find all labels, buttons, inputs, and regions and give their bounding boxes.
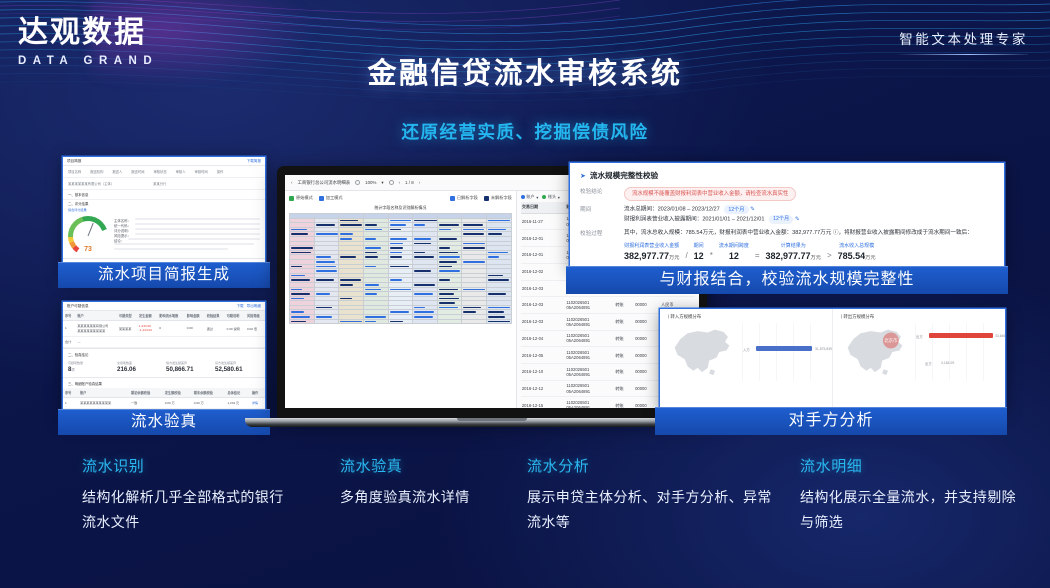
field-marker: [340, 279, 361, 281]
formula-op-greater: >: [827, 251, 832, 261]
detail-bar-1: [135, 223, 260, 225]
report-section-1: 一、基本信息: [63, 190, 265, 199]
field-marker: [390, 238, 407, 240]
cell-lvl: 0.00 低: [245, 321, 265, 337]
feature-item-1: 流水识别 结构化解析几乎全部格式的银行流水文件: [82, 455, 297, 534]
field-marker: [340, 220, 358, 222]
field-marker: [439, 256, 460, 258]
vstat-2: 借方发生额差异 50,866.71: [166, 361, 211, 374]
report-detail-lines: 主体名称： 统一代码： 评分说明： 风险提示： 结论：: [114, 216, 260, 256]
field-marker: [488, 233, 502, 235]
field-marker: [340, 284, 353, 286]
field-marker: [414, 284, 435, 286]
verify-suspicious-table: 序号 账户 可疑类型 发生金额 影响流水笔数 影响金额 校验结果 可疑说明 风险…: [63, 311, 265, 348]
tagline-text: 智能文本处理专家: [896, 28, 1028, 48]
field-marker: [390, 252, 403, 254]
filter-dot-icon: [521, 195, 525, 199]
doc-caption: 统计字段名称及识别解析情况: [289, 205, 512, 211]
field-marker: [439, 238, 457, 240]
period-flow-range: 流水总期间：2023/01/08 – 2023/12/27: [624, 207, 720, 213]
cell-date: 2016-12-10: [521, 363, 566, 380]
cell-amt: [137, 336, 157, 347]
screenshot-report-panel[interactable]: 项目简报 下载简报 项目名称 报送机构 报送人 报送时间 审核状态 审核人 审核…: [63, 157, 265, 279]
field-marker: [488, 307, 510, 309]
period-report-range: 财报利润表营业收入披露期间：2021/01/01 – 2021/12/01: [624, 216, 765, 222]
integrity-period-row: 期间 流水总期间：2023/01/08 – 2023/12/27 12个月 ✎ …: [580, 205, 995, 224]
report-data-row: 某某某某某某有限公司（主体） 某某分行: [63, 178, 265, 190]
vstat-1-value: 216.06: [117, 366, 162, 373]
field-marker: [439, 261, 458, 263]
cell-note: [225, 336, 245, 347]
inflow-distribution: 丨转入方规模分布 入方 31,875,839: [660, 309, 832, 411]
feature-4-title: 流水明细: [800, 455, 1025, 476]
inflow-title: 丨转入方规模分布: [666, 314, 826, 320]
field-marker: [365, 224, 377, 226]
field-marker: [439, 293, 454, 295]
vstat-0-label: 可疑项数量: [68, 361, 113, 365]
vcol-6: 校验结果: [205, 311, 225, 321]
col-6: 审核时间: [195, 169, 208, 174]
chevron-down-icon[interactable]: ▾: [381, 180, 383, 186]
period-chip-2[interactable]: 12个月: [769, 215, 793, 224]
field-marker: [488, 256, 499, 258]
formula-label-2: 期间: [694, 242, 704, 249]
formula-term-6: 计算结果为 382,977.77万元: [766, 242, 821, 261]
cell-account: 110202650105A2064891: [565, 397, 614, 408]
cell-date: 2016-12-01: [521, 247, 566, 264]
field-marker: [414, 252, 425, 254]
vstat-3-label: 贷方发生额差异: [215, 361, 260, 365]
field-marker: [414, 307, 425, 309]
vstat-1: 交易笔数差 216.06: [117, 361, 162, 374]
verify-head-action-2[interactable]: 导出明细: [247, 304, 261, 309]
field-marker: [365, 321, 377, 323]
field-marker: [340, 238, 351, 240]
field-marker: [340, 224, 362, 226]
field-marker: [414, 224, 425, 226]
legend-parsed-label: 已解析字段: [457, 195, 478, 201]
feature-item-3: 流水分析 展示申贷主体分析、对手方分析、异常流水等: [527, 455, 772, 534]
document-title: 工商银行总公司流水明细表: [297, 180, 350, 186]
cell-currency: 00000: [634, 363, 660, 380]
formula-label-0: 财报利润表营业收入金额: [624, 242, 679, 249]
cell-date: 2016-12-03: [521, 280, 566, 297]
inflow-bar-chart: 入方 31,875,839: [742, 323, 826, 381]
tag-original-mode[interactable]: 原始模式: [289, 195, 313, 201]
field-marker: [316, 293, 331, 295]
field-marker: [414, 243, 431, 245]
legend-parsed-swatch-icon: [450, 196, 455, 201]
field-marker: [488, 275, 503, 277]
outflow-distribution: 丨转出方规模分布 北京市 出方 33,646,489.91 出方 3,184.0…: [832, 309, 1005, 411]
cell-lvl: [245, 336, 265, 347]
formula-value-8: 785.54: [838, 251, 866, 261]
table-row[interactable]: 1 某某某某某某有限公司某某某某某某某某某 某某某某 1,234.00-1,23…: [63, 321, 265, 337]
legend-parsed: 已解析字段: [450, 195, 478, 201]
tag-original-label: 原始模式: [296, 195, 313, 201]
field-marker: [463, 289, 485, 291]
field-marker: [488, 279, 509, 281]
field-marker: [390, 266, 410, 268]
cell-date: 2016-12-01: [521, 230, 566, 247]
field-marker: [439, 252, 458, 254]
zoom-in-icon[interactable]: [389, 180, 394, 185]
formula-term-4: 流水期间跨度 12: [719, 242, 749, 261]
inflow-axis-label: 入方: [743, 347, 750, 352]
period-chip-1[interactable]: 12个月: [724, 205, 748, 214]
field-marker: [390, 256, 403, 258]
vstat-0: 可疑项数量 8项: [68, 361, 113, 374]
table-row: [290, 319, 512, 324]
field-marker: [340, 298, 351, 300]
next-page-icon[interactable]: ›: [419, 180, 420, 185]
grid-cell: [363, 319, 388, 324]
detail-bar-4: [128, 238, 260, 240]
gauge-value: 73: [68, 246, 108, 253]
verify-header: 账户可疑信息 下载 导出明细: [63, 302, 265, 311]
field-marker: [488, 321, 509, 323]
field-marker: [390, 321, 403, 323]
cell-account: 110202650105A2064891: [565, 297, 614, 314]
feature-3-desc: 展示申贷主体分析、对手方分析、异常流水等: [527, 485, 772, 534]
edit-icon[interactable]: ✎: [795, 216, 800, 222]
zoom-level[interactable]: 100%: [365, 180, 376, 185]
integrity-formula: 财报利润表营业收入金额 382,977.77万元 / 期间 12 * 流水期间跨…: [580, 242, 995, 261]
verify-head-action-1[interactable]: 下载: [236, 304, 243, 309]
field-marker: [316, 307, 333, 309]
field-marker: [414, 220, 436, 222]
field-marker: [390, 289, 411, 291]
vcol-7: 可疑说明: [225, 311, 245, 321]
formula-value-0: 382,977.77: [624, 251, 669, 261]
detail-bar-3: [135, 233, 260, 235]
d-occ: 0.00 万: [163, 398, 192, 409]
vcol-1: 账户: [75, 311, 117, 321]
integrity-title: 流水规模完整性校验: [590, 170, 658, 181]
v3col-4: 期末余额校验: [192, 388, 226, 398]
field-marker: [365, 238, 376, 240]
cell-date: 2016-12-02: [521, 263, 566, 280]
col-2: 报送人: [112, 169, 122, 174]
v3col-2: 期初余额校验: [129, 388, 163, 398]
back-icon[interactable]: ‹: [291, 180, 292, 185]
cell-date: 2016-12-05: [521, 347, 566, 364]
field-marker: [365, 289, 382, 291]
field-marker: [488, 229, 506, 231]
feature-2-desc: 多角度验真流水详情: [340, 485, 535, 510]
field-marker: [316, 224, 336, 226]
caption-counterparty: 对手方分析: [655, 407, 1007, 435]
outflow-axis-label: 出方: [916, 334, 923, 339]
field-marker: [291, 311, 304, 313]
field-marker: [463, 224, 482, 226]
feature-list: 流水识别 结构化解析几乎全部格式的银行流水文件 流水验真 多角度验真流水详情 流…: [0, 455, 1050, 565]
page-title: 金融信贷流水审核系统: [0, 50, 1050, 92]
report-head-title: 项目简报: [67, 159, 81, 164]
field-marker: [291, 316, 310, 318]
formula-label-8: 流水收入总规模: [838, 242, 876, 249]
v3col-0: 序号: [63, 388, 78, 398]
v3col-1: 账户: [78, 388, 129, 398]
field-marker: [291, 293, 310, 295]
legend-unparsed: 未解析字段: [484, 195, 512, 201]
formula-unit-8: 万元: [865, 255, 875, 261]
field-marker: [291, 247, 313, 249]
cell-type: [117, 336, 137, 347]
field-marker: [439, 266, 452, 268]
field-marker: [439, 289, 458, 291]
process-label: 校验过程: [580, 229, 624, 238]
field-marker: [316, 279, 334, 281]
filter-account-label: 账户: [526, 194, 534, 200]
edit-icon[interactable]: ✎: [750, 207, 755, 213]
inflow-bar: [756, 346, 812, 351]
expand-chevron-icon[interactable]: ➤: [580, 172, 586, 180]
v3col-3: 发生额校验: [163, 388, 192, 398]
screenshot-integrity-panel[interactable]: ➤ 流水规模完整性校验 校验结论 流水规模不能覆盖财报利润表中营业收入金额，请检…: [570, 163, 1004, 269]
field-marker: [414, 256, 434, 258]
formula-value-2: 12: [694, 251, 704, 261]
field-marker: [414, 293, 433, 295]
cell-acct: —: [75, 336, 117, 347]
field-marker: [439, 302, 455, 304]
formula-op-multiply: *: [710, 251, 713, 261]
d-op: 详情: [250, 398, 265, 409]
field-marker: [316, 270, 337, 272]
cell-infl: 0.00: [185, 321, 205, 337]
field-marker: [365, 229, 382, 231]
filter-header[interactable]: 账头▾: [542, 194, 560, 200]
field-marker: [463, 243, 485, 245]
zoom-out-icon[interactable]: [355, 180, 360, 185]
inflow-title-text: 转入方规模分布: [670, 314, 701, 319]
field-marker: [463, 229, 483, 231]
grid-cell: [314, 319, 339, 324]
cell-date: 2016-12-12: [521, 380, 566, 397]
cell-type: 某某某某: [117, 321, 137, 337]
vstat-3-value: 52,580.61: [215, 366, 260, 373]
field-marker: [390, 229, 402, 231]
field-marker: [316, 256, 331, 258]
mode-tags[interactable]: 原始模式 加工模式 已解析字段: [289, 195, 512, 201]
formula-value-4: 12: [729, 251, 739, 261]
document-pane[interactable]: 原始模式 加工模式 已解析字段: [285, 191, 517, 408]
cell-cnt: 0: [157, 321, 185, 337]
filter-header-label: 账头: [548, 194, 556, 200]
formula-unit-0: 万元: [669, 255, 679, 261]
field-marker: [291, 266, 302, 268]
china-map-icon: [666, 323, 738, 381]
legend-unparsed-swatch-icon: [484, 196, 489, 201]
outflow-second-value: 3,184.09: [941, 361, 954, 365]
filter-account[interactable]: 账户▾: [521, 194, 539, 200]
feature-4-desc: 结构化展示全量流水，并支持剔除与筛选: [800, 485, 1025, 534]
grid-cell: [413, 319, 438, 324]
field-marker: [291, 252, 311, 254]
vcol-3: 发生金额: [137, 311, 157, 321]
china-map-icon: 北京市: [839, 323, 911, 381]
integrity-content: ➤ 流水规模完整性校验 校验结论 流水规模不能覆盖财报利润表中营业收入金额，请检…: [570, 163, 1004, 265]
report-head-action[interactable]: 下载简报: [247, 159, 261, 164]
field-marker: [390, 247, 403, 249]
col-0: 项目名称: [68, 169, 81, 174]
d-end: 0.00 万: [192, 398, 226, 409]
table-header-row: 序号 账户 可疑类型 发生金额 影响流水笔数 影响金额 校验结果 可疑说明 风险…: [63, 311, 265, 321]
field-marker: [340, 256, 356, 258]
field-marker: [390, 220, 411, 222]
slide-canvas: 达观数据 DATA GRAND 智能文本处理专家 金融信贷流水审核系统 还原经营…: [0, 0, 1050, 588]
field-marker: [488, 220, 510, 222]
cell-date: 2016-12-03: [521, 297, 566, 314]
table-row[interactable]: 合计 —: [63, 336, 265, 347]
field-marker: [365, 256, 378, 258]
outflow-title: 丨转出方规模分布: [839, 314, 999, 320]
screenshot-verify-panel[interactable]: 账户可疑信息 下载 导出明细 序号 账户 可疑类型 发生金额 影响流水笔数 影响…: [63, 302, 265, 420]
field-marker: [463, 233, 483, 235]
field-marker: [291, 233, 308, 235]
feature-item-4: 流水明细 结构化展示全量流水，并支持剔除与筛选: [800, 455, 1025, 534]
field-marker: [488, 252, 508, 254]
cell-currency: 00000: [634, 313, 660, 330]
field-marker: [488, 293, 506, 295]
cell-idx: 合计: [63, 336, 75, 347]
vstat-2-label: 借方发生额差异: [166, 361, 211, 365]
vcol-4: 影响流水笔数: [157, 311, 185, 321]
verify-section-3: 三、明细账户验真结果: [63, 377, 265, 388]
cell-summary: 转账: [614, 397, 634, 408]
cell-account: 110202650105A2064891: [565, 380, 614, 397]
field-marker: [390, 279, 403, 281]
report-columns-row: 项目名称 报送机构 报送人 报送时间 审核状态 审核人 审核时间 操作: [63, 166, 265, 178]
detail-bar-0: [135, 218, 260, 220]
gauge-needle: [88, 223, 94, 236]
formula-term-2: 期间 12: [694, 242, 704, 261]
screenshot-counterparty-panel[interactable]: 丨转入方规模分布 入方 31,875,839 丨转出方规模分布: [660, 309, 1005, 411]
d-acct: 某某某某某某某某某某: [78, 398, 129, 409]
vstat-1-label: 交易笔数差: [117, 361, 162, 365]
detail-label-4: 结论：: [114, 238, 124, 243]
col-1: 报送机构: [90, 169, 103, 174]
green-swatch-icon: [289, 196, 294, 201]
grid-cell: [487, 319, 512, 324]
field-marker: [439, 224, 459, 226]
field-marker: [316, 316, 333, 318]
feature-1-desc: 结构化解析几乎全部格式的银行流水文件: [82, 485, 297, 534]
prev-page-icon[interactable]: ‹: [399, 180, 400, 185]
field-marker: [316, 233, 338, 235]
field-marker: [439, 298, 459, 300]
d-idx: 1: [63, 398, 78, 409]
cell-currency: 00000: [634, 380, 660, 397]
field-marker: [291, 279, 310, 281]
cell-idx: 1: [63, 321, 75, 337]
page-subtitle: 还原经营实质、挖掘偿债风险: [0, 119, 1050, 144]
outflow-title-text: 转出方规模分布: [843, 314, 874, 319]
cell-note: 0.00 说明: [225, 321, 245, 337]
field-marker: [414, 270, 431, 272]
field-marker: [414, 238, 431, 240]
field-marker: [291, 289, 302, 291]
detail-bar-5: [114, 243, 254, 245]
tag-processed-mode[interactable]: 加工模式: [319, 195, 343, 201]
vcol-2: 可疑类型: [117, 311, 137, 321]
field-marker: [291, 321, 306, 323]
field-marker: [488, 311, 504, 313]
feature-item-2: 流水验真 多角度验真流水详情: [340, 455, 535, 510]
row-name: 某某某某某某有限公司（主体）: [68, 181, 114, 186]
cell-amt: 1,234.00-1,234.00: [137, 321, 157, 337]
grid-cell: [290, 319, 315, 324]
process-text: 其中，流水总收入规模：785.54万元，财报利润表中营业收入金额：382,977…: [624, 229, 995, 238]
verify-head-title: 账户可疑信息: [67, 304, 89, 309]
cell-date: 2016-12-03: [521, 313, 566, 330]
detail-bar-2: [135, 228, 260, 230]
formula-label-4: 流水期间跨度: [719, 242, 749, 249]
cell-res: [205, 336, 225, 347]
outflow-second-axis: 出方: [925, 361, 932, 366]
field-marker: [316, 261, 335, 263]
vcol-8: 风险等级: [245, 311, 265, 321]
period-line-2: 财报利润表营业收入披露期间：2021/01/01 – 2021/12/01 12…: [624, 215, 995, 224]
period-line-1: 流水总期间：2023/01/08 – 2023/12/27 12个月 ✎: [624, 205, 995, 214]
field-marker: [291, 298, 304, 300]
table-header-row: 序号 账户 期初余额校验 发生额校验 期末余额校验 总体结论 操作: [63, 388, 265, 398]
cell-cnt: [157, 336, 185, 347]
report-section-2: 二、评分结果: [63, 199, 265, 207]
field-marker: [414, 316, 433, 318]
formula-label-6: 计算结果为: [766, 242, 821, 249]
feature-3-title: 流水分析: [527, 455, 772, 476]
cell-account: 110202650105A2064891: [565, 363, 614, 380]
integrity-process-row: 校验过程 其中，流水总收入规模：785.54万元，财报利润表中营业收入金额：38…: [580, 229, 995, 238]
field-marker: [340, 321, 361, 323]
period-label: 期间: [580, 205, 624, 224]
cell-account: 110202650105A2064891: [565, 347, 614, 364]
col-4: 审核状态: [153, 169, 166, 174]
cell-date: 2016-12-15: [521, 397, 566, 408]
vstat-3: 贷方发生额差异 52,580.61: [215, 361, 260, 374]
cell-res: 通过: [205, 321, 225, 337]
formula-op-equals: =: [755, 251, 760, 261]
formula-unit-6: 万元: [811, 255, 821, 261]
d-sum: 1,234 元: [225, 398, 249, 409]
cell-currency: 00000: [634, 347, 660, 364]
field-marker: [365, 284, 379, 286]
cell-summary: 转账: [614, 297, 634, 314]
page-indicator: 1 / 8: [405, 180, 414, 185]
field-marker: [390, 224, 407, 226]
inflow-body: 入方 31,875,839: [666, 323, 826, 381]
field-marker: [463, 307, 480, 309]
hotspot-label: 北京市: [884, 337, 898, 344]
score-gauge: 73: [68, 216, 108, 256]
field-marker: [291, 229, 307, 231]
field-marker: [439, 229, 451, 231]
grid-cell: [388, 319, 413, 324]
row-org: 某某分行: [153, 181, 166, 186]
field-marker: [365, 293, 377, 295]
outflow-bar: [929, 333, 993, 338]
table-row[interactable]: 1 某某某某某某某某某某 一致 0.00 万 0.00 万 1,234 元 详情: [63, 398, 265, 409]
filter-dot-icon: [542, 195, 546, 199]
field-marker: [340, 233, 353, 235]
blue-swatch-icon: [319, 196, 324, 201]
cell-currency: 00000: [634, 297, 660, 314]
status-badge: 流水规模不能覆盖财报利润表中营业收入金额，请检查流水真实性: [624, 187, 796, 201]
formula-term-0: 财报利润表营业收入金额 382,977.77万元: [624, 242, 679, 261]
field-marker: [463, 311, 476, 313]
cell-summary: 转账: [614, 380, 634, 397]
